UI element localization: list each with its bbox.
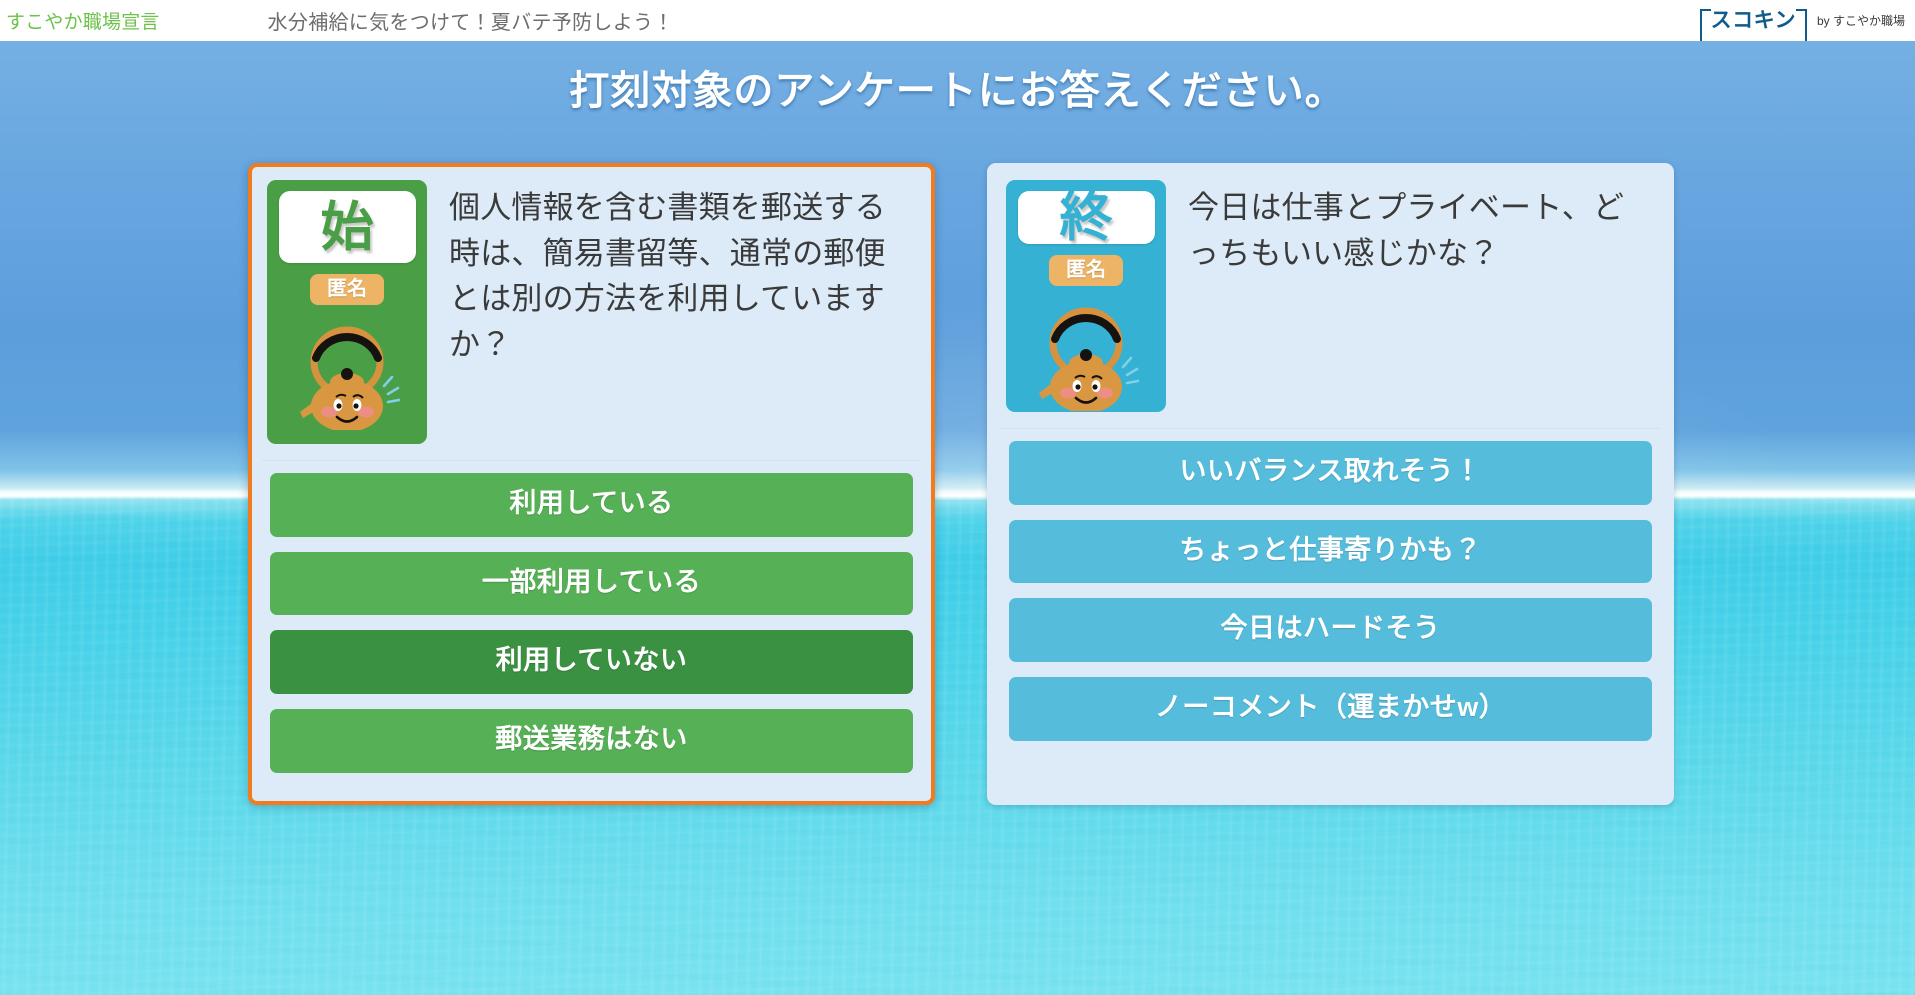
answer-button[interactable]: 一部利用している xyxy=(270,552,913,616)
logo-byline: by すこやか職場 xyxy=(1815,15,1905,27)
answer-button[interactable]: 利用している xyxy=(270,473,913,537)
survey-card-end[interactable]: 終 匿名 xyxy=(987,163,1674,805)
answer-options: 利用している 一部利用している 利用していない 郵送業務はない xyxy=(252,461,931,799)
question-text: 今日は仕事とプライベート、どっちもいい感じかな？ xyxy=(1188,180,1650,412)
answer-button[interactable]: ちょっと仕事寄りかも？ xyxy=(1009,520,1652,584)
stamp-kanji-box: 始 xyxy=(279,191,416,263)
stamp-end: 終 匿名 xyxy=(1006,180,1166,412)
anonymous-badge: 匿名 xyxy=(1049,255,1123,286)
card-header: 始 匿名 xyxy=(252,167,931,460)
page-title: 打刻対象のアンケートにお答えください。 xyxy=(0,58,1915,116)
stamp-start: 始 匿名 xyxy=(267,180,427,444)
answer-options: いいバランス取れそう！ ちょっと仕事寄りかも？ 今日はハードそう ノーコメント（… xyxy=(991,429,1670,801)
answer-button[interactable]: 今日はハードそう xyxy=(1009,598,1652,662)
answer-button[interactable]: 利用していない xyxy=(270,630,913,694)
header-marquee-message: 水分補給に気をつけて！夏バテ予防しよう！ xyxy=(268,6,674,35)
anonymous-badge: 匿名 xyxy=(310,274,384,305)
survey-card-list: 始 匿名 xyxy=(248,163,1674,805)
answer-button[interactable]: ノーコメント（運まかせw） xyxy=(1009,677,1652,741)
sukokin-logo-icon[interactable]: スコキン xyxy=(1700,8,1807,34)
page-root: すこやか職場宣言 水分補給に気をつけて！夏バテ予防しよう！ スコキン by すこ… xyxy=(0,0,1915,995)
card-header: 終 匿名 xyxy=(991,167,1670,428)
logo-area[interactable]: スコキン by すこやか職場 xyxy=(1700,8,1905,34)
answer-button[interactable]: いいバランス取れそう！ xyxy=(1009,441,1652,505)
survey-card-start[interactable]: 始 匿名 xyxy=(248,163,935,805)
answer-button[interactable]: 郵送業務はない xyxy=(270,709,913,773)
app-header: すこやか職場宣言 水分補給に気をつけて！夏バテ予防しよう！ スコキン by すこ… xyxy=(0,0,1915,41)
stamp-kanji: 始 xyxy=(321,201,374,254)
brand-name: すこやか職場宣言 xyxy=(6,7,160,34)
stamp-kanji-box: 終 xyxy=(1018,191,1155,244)
kettle-mascot-icon xyxy=(1028,295,1144,412)
stamp-kanji: 終 xyxy=(1060,191,1113,244)
question-text: 個人情報を含む書類を郵送する時は、簡易書留等、通常の郵便とは別の方法を利用してい… xyxy=(449,180,911,444)
kettle-mascot-icon xyxy=(289,314,405,435)
